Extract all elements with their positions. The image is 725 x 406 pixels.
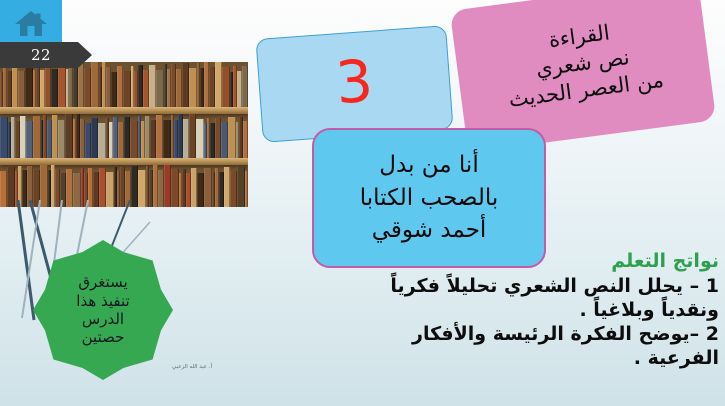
book-spine <box>189 68 197 110</box>
page-number-ribbon: 22 <box>0 42 92 68</box>
book-spine <box>106 172 114 207</box>
book-spine <box>242 66 248 110</box>
lesson-number-card: 3 <box>255 25 453 143</box>
lesson-title-line-1: أنا من بدل <box>379 149 478 182</box>
book-spine <box>245 171 248 207</box>
book-spine <box>197 173 204 207</box>
book-spine <box>123 71 131 110</box>
book-spine <box>73 173 81 207</box>
outcome-line-1: 1 – يحلل النص الشعري تحليلاً فكرياً <box>357 275 719 299</box>
book-spine <box>18 71 25 110</box>
book-spine <box>66 169 73 207</box>
lesson-title-line-2: بالصحب الكتابا <box>360 182 499 215</box>
book-spine <box>149 65 156 110</box>
book-spine <box>156 115 163 160</box>
home-button[interactable] <box>0 0 64 47</box>
book-spine <box>156 70 164 110</box>
duration-line-3: الدرس <box>82 310 124 328</box>
outcomes-heading: نواتج التعلم <box>357 250 719 274</box>
book-spine <box>171 169 179 207</box>
book-spine <box>164 165 171 207</box>
book-spine <box>243 121 248 160</box>
outcome-line-3: 2 –يوضح الفكرة الرئيسة والأفكار <box>357 323 719 347</box>
book-spine <box>215 62 222 110</box>
book-spine <box>237 167 245 207</box>
book-spine <box>98 123 106 160</box>
book-spine <box>222 67 230 110</box>
duration-seal: يستغرق تنفيذ هذا الدرس حصتين <box>33 240 173 380</box>
book-spine <box>58 120 65 160</box>
page-number: 22 <box>31 46 51 64</box>
lesson-title-card: أنا من بدل بالصحب الكتابا أحمد شوقي <box>312 128 546 268</box>
book-spine <box>65 114 73 160</box>
duration-line-1: يستغرق <box>78 273 127 291</box>
book-spine <box>130 121 138 160</box>
book-spine <box>99 168 106 207</box>
book-spine <box>228 117 236 160</box>
book-spine <box>26 121 33 160</box>
book-spine <box>189 114 196 160</box>
outcome-line-2: ونقدياً وبلاغياً . <box>357 299 719 323</box>
book-spine <box>0 117 8 160</box>
book-spine <box>84 68 91 110</box>
book-spine <box>230 171 237 207</box>
learning-outcomes: نواتج التعلم 1 – يحلل النص الشعري تحليلا… <box>357 250 719 371</box>
book-spine <box>0 171 7 207</box>
bookshelf-photo <box>0 62 248 207</box>
book-spine <box>40 165 48 207</box>
book-spine <box>117 66 124 110</box>
book-spine <box>196 119 204 160</box>
book-spine <box>91 62 99 110</box>
book-spine <box>204 168 212 207</box>
book-spine <box>25 65 33 110</box>
book-spine <box>182 63 189 110</box>
book-spine <box>221 122 228 160</box>
duration-line-2: تنفيذ هذا <box>76 292 129 310</box>
book-spine <box>91 118 98 160</box>
author-watermark: أ. عبد الله الزعبي <box>172 364 212 370</box>
book-spine <box>58 64 66 110</box>
lesson-author: أحمد شوقي <box>372 214 487 247</box>
lesson-number-value: 3 <box>334 52 375 113</box>
slide-canvas: يستغرق تنفيذ هذا الدرس حصتين أ. عبد الله… <box>0 0 725 406</box>
book-spine <box>33 116 41 160</box>
book-spine <box>131 166 138 207</box>
book-spine <box>124 117 131 160</box>
duration-line-4: حصتين <box>82 328 125 346</box>
book-spine <box>163 120 171 160</box>
outcome-line-4: الفرعية . <box>357 347 719 371</box>
home-icon <box>14 8 48 38</box>
book-spine <box>33 170 40 207</box>
book-spine <box>138 170 146 207</box>
book-spine <box>51 69 58 110</box>
book-spine <box>7 167 15 207</box>
